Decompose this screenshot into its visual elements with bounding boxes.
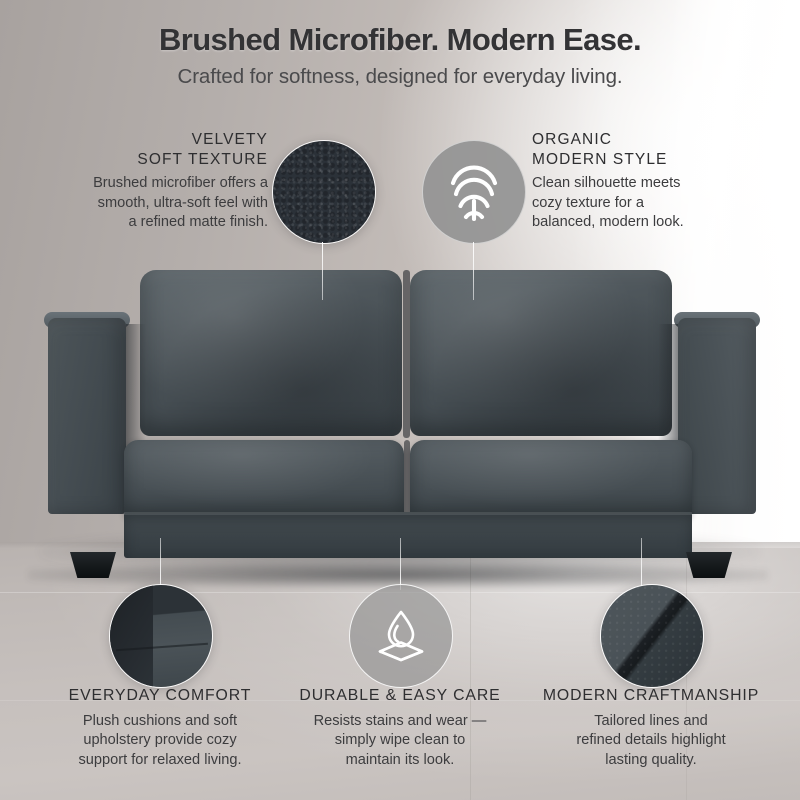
callout-title: ORGANIC MODERN STYLE — [532, 130, 768, 170]
callout-title: DURABLE & EASY CARE — [282, 686, 518, 707]
water-drop-layers-icon — [370, 606, 432, 666]
sofa-leg-left — [70, 552, 116, 578]
callout-body-line-3: lasting quality. — [605, 752, 696, 768]
callout-velvety-soft-texture: VELVETY SOFT TEXTURE Brushed microfiber … — [36, 130, 268, 233]
sofa-seat-cushion-left — [124, 440, 404, 518]
seam-detail-photo — [600, 584, 704, 688]
callout-body-line-3: balanced, modern look. — [532, 214, 684, 230]
seam-detail-texture — [601, 585, 703, 687]
sofa-arm-photo — [109, 584, 213, 688]
arm-back-shade — [110, 585, 153, 687]
sofa-cushion-gap-seat — [404, 440, 410, 518]
header-block: Brushed Microfiber. Modern Ease. Crafted… — [0, 0, 800, 89]
callout-body-line-3: support for relaxed living. — [78, 752, 241, 768]
callout-body-line-2: simply wipe clean to — [335, 732, 466, 748]
sofa-cushion-gap-back — [403, 270, 410, 438]
callout-body: Brushed microfiber offers a smooth, ultr… — [36, 174, 268, 233]
callout-body: Tailored lines and refined details highl… — [520, 712, 782, 771]
callout-body-line-1: Tailored lines and — [594, 713, 708, 729]
callout-title: MODERN CRAFTMANSHIP — [520, 686, 782, 707]
callout-title-line-2: MODERN STYLE — [532, 151, 668, 168]
callout-body: Clean silhouette meets cozy texture for … — [532, 174, 768, 233]
infographic-canvas: Brushed Microfiber. Modern Ease. Crafted… — [0, 0, 800, 800]
callout-body-line-1: Clean silhouette meets — [532, 175, 680, 191]
fingerprint-icon — [445, 161, 503, 223]
callout-durable-easy-care: DURABLE & EASY CARE Resists stains and w… — [282, 686, 518, 770]
callout-title-line-2: SOFT TEXTURE — [137, 151, 268, 168]
callout-title: VELVETY SOFT TEXTURE — [36, 130, 268, 170]
callout-title-line-1: VELVETY — [192, 131, 268, 148]
fabric-swatch-photo — [272, 140, 376, 244]
callout-body: Plush cushions and soft upholstery provi… — [42, 712, 278, 771]
callout-body-line-2: smooth, ultra-soft feel with — [98, 195, 268, 211]
callout-body: Resists stains and wear — simply wipe cl… — [282, 712, 518, 771]
callout-connector-line — [473, 242, 474, 300]
callout-modern-craftmanship: MODERN CRAFTMANSHIP Tailored lines and r… — [520, 686, 782, 770]
arm-detail-texture — [110, 585, 212, 687]
callout-title: EVERYDAY COMFORT — [42, 686, 278, 707]
page-subtitle: Crafted for softness, designed for every… — [0, 58, 800, 89]
callout-body-line-1: Plush cushions and soft — [83, 713, 237, 729]
sofa-product-image — [18, 262, 786, 558]
callout-connector-line — [400, 538, 401, 590]
callout-body-line-1: Resists stains and wear — — [314, 713, 487, 729]
callout-body-line-2: refined details highlight — [576, 732, 725, 748]
water-drop-layers-icon-badge — [349, 584, 453, 688]
sofa-arm-left — [48, 318, 126, 514]
sofa-base-highlight — [124, 512, 692, 515]
callout-everyday-comfort: EVERYDAY COMFORT Plush cushions and soft… — [42, 686, 278, 770]
sofa-back-cushion-right — [410, 270, 672, 436]
fabric-texture — [273, 141, 375, 243]
callout-body-line-3: a refined matte finish. — [128, 214, 268, 230]
callout-title-line-1: ORGANIC — [532, 131, 612, 148]
sofa-leg-right — [686, 552, 732, 578]
callout-connector-line — [641, 538, 642, 590]
fingerprint-icon-badge — [422, 140, 526, 244]
page-title: Brushed Microfiber. Modern Ease. — [0, 0, 800, 58]
sofa-seat-cushion-right — [410, 440, 692, 518]
callout-connector-line — [160, 538, 161, 590]
callout-organic-modern-style: ORGANIC MODERN STYLE Clean silhouette me… — [532, 130, 768, 233]
callout-body-line-3: maintain its look. — [346, 752, 455, 768]
callout-connector-line — [322, 242, 323, 300]
callout-body-line-2: upholstery provide cozy — [83, 732, 236, 748]
callout-body-line-1: Brushed microfiber offers a — [93, 175, 268, 191]
callout-body-line-2: cozy texture for a — [532, 195, 644, 211]
sofa-back-cushion-left — [140, 270, 402, 436]
sofa-base-frame — [124, 512, 692, 558]
